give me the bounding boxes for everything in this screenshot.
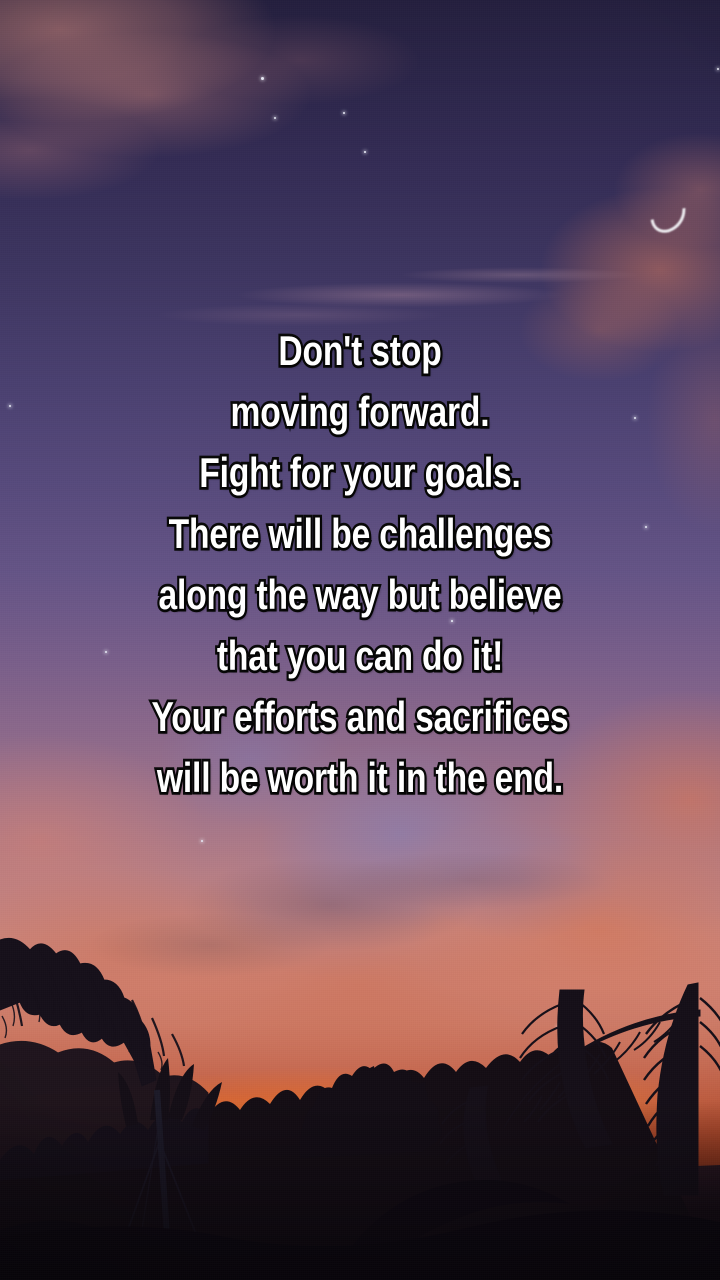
quote-line-8: will be worth it in the end. xyxy=(72,747,648,808)
quote-line-6: that you can do it! xyxy=(72,625,648,686)
quote-line-7: Your efforts and sacrifices xyxy=(72,686,648,747)
willow-tree-silhouette xyxy=(0,938,208,1180)
quote-text-block: Don't stop moving forward. Fight for you… xyxy=(0,320,720,808)
quote-line-4: There will be challenges xyxy=(72,503,648,564)
quote-line-3: Fight for your goals. xyxy=(72,442,648,503)
quote-line-1: Don't stop xyxy=(72,320,648,381)
quote-image-canvas: Don't stop moving forward. Fight for you… xyxy=(0,0,720,1280)
quote-line-5: along the way but believe xyxy=(72,564,648,625)
quote-line-2: moving forward. xyxy=(72,381,648,442)
